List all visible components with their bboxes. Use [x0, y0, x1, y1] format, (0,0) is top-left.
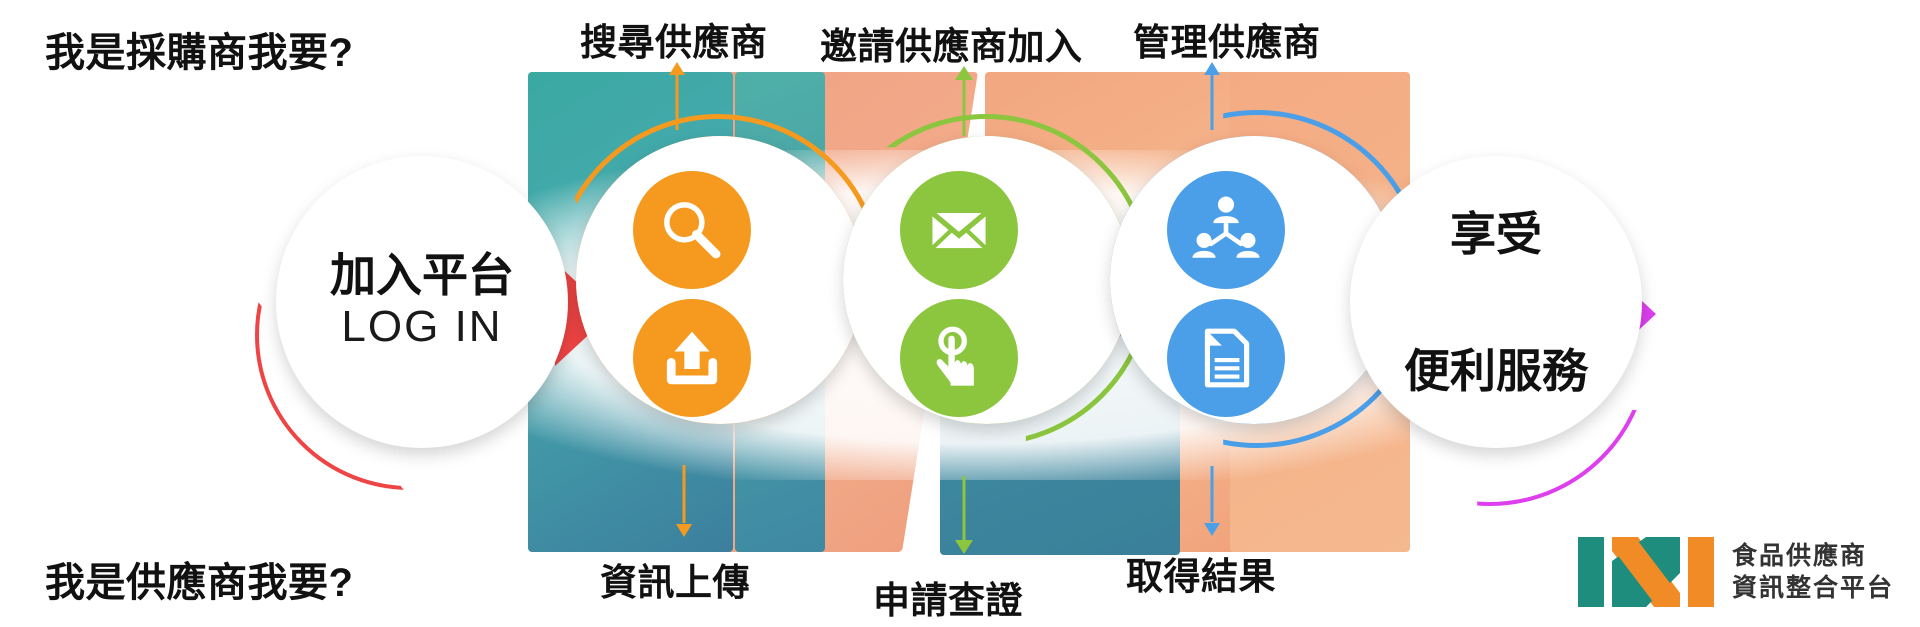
bottom-step-label-results: 取得結果 — [1126, 546, 1276, 600]
node-login-subtitle: LOG IN — [341, 302, 502, 352]
bottom-step-label-verify: 申請查證 — [873, 570, 1023, 624]
logo-line-1: 食品供應商 — [1732, 543, 1894, 569]
document-icon — [1167, 299, 1285, 417]
search-icon — [633, 171, 751, 289]
arrow-down-upload — [676, 465, 692, 537]
node-enjoy-title-top: 享受 — [1450, 211, 1542, 258]
envelope-icon — [900, 171, 1018, 289]
node-enjoy-title-bottom: 便利服務 — [1404, 348, 1588, 395]
top-step-label-invite: 邀請供應商加入 — [820, 16, 1083, 70]
tap-hand-icon — [900, 299, 1018, 417]
node-enjoy[interactable]: 享受 便利服務 — [1352, 158, 1640, 446]
platform-logo[interactable]: 食品供應商 資訊整合平台 — [1576, 535, 1894, 609]
arrow-up-invite — [955, 66, 973, 136]
top-step-label-search: 搜尋供應商 — [580, 12, 768, 66]
people-network-icon — [1167, 171, 1285, 289]
arrow-down-results — [1204, 466, 1220, 536]
question-supplier: 我是供應商我要? — [45, 550, 353, 608]
infographic-canvas: 我是採購商我要? 我是供應商我要? 搜尋供應商 邀請供應商加入 管理供應商 資訊… — [0, 0, 1920, 627]
arrow-up-manage — [1204, 62, 1220, 130]
logo-text: 食品供應商 資訊整合平台 — [1732, 543, 1894, 601]
arrow-up-search — [669, 62, 685, 130]
node-login[interactable]: 加入平台 LOG IN — [278, 158, 566, 446]
arrow-down-verify — [955, 476, 973, 554]
upload-icon — [633, 299, 751, 417]
node-search-upload[interactable] — [576, 136, 864, 424]
node-invite-verify[interactable] — [843, 136, 1131, 424]
top-step-label-manage: 管理供應商 — [1133, 12, 1321, 66]
question-buyer: 我是採購商我要? — [45, 20, 353, 78]
logo-mark-icon — [1576, 535, 1716, 609]
node-login-title: 加入平台 — [330, 252, 514, 299]
logo-line-2: 資訊整合平台 — [1732, 575, 1894, 601]
bottom-step-label-upload: 資訊上傳 — [600, 552, 750, 606]
